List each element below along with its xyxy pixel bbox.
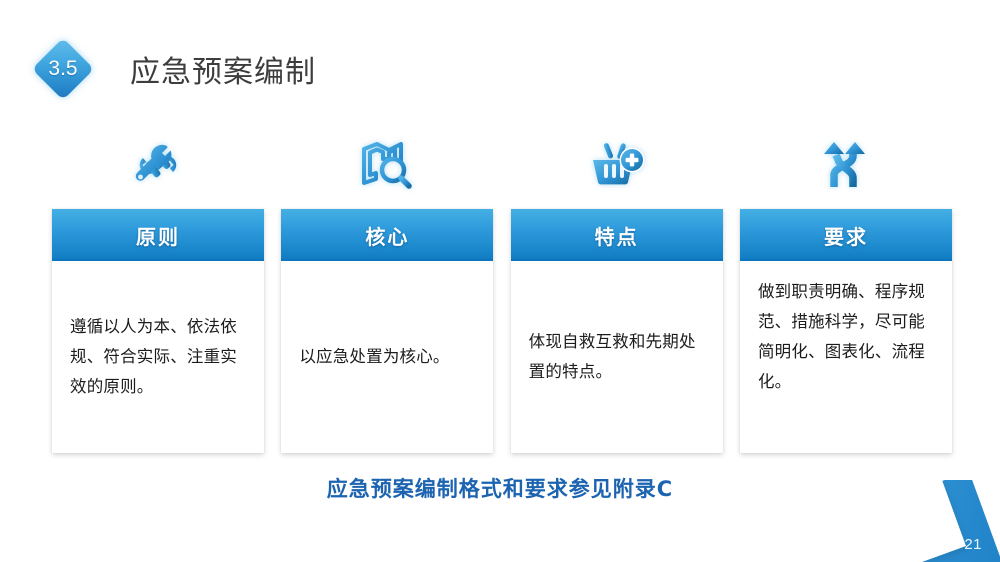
columns-container: 原则 遵循以人为本、依法依规、符合实际、注重实效的原则。 bbox=[52, 126, 952, 456]
card-header-label: 核心 bbox=[281, 209, 493, 261]
page-number: 21 bbox=[964, 536, 982, 553]
column-requirement: 要求 做到职责明确、程序规范、措施科学，尽可能简明化、图表化、流程化。 bbox=[740, 126, 952, 456]
card-feature[interactable]: 特点 体现自救互救和先期处置的特点。 bbox=[511, 209, 723, 453]
map-search-icon bbox=[281, 126, 493, 204]
slide-title-row: 3.5 应急预案编制 bbox=[30, 36, 316, 102]
card-body-text: 做到职责明确、程序规范、措施科学，尽可能简明化、图表化、流程化。 bbox=[740, 261, 952, 453]
card-requirement[interactable]: 要求 做到职责明确、程序规范、措施科学，尽可能简明化、图表化、流程化。 bbox=[740, 209, 952, 453]
card-core[interactable]: 核心 以应急处置为核心。 bbox=[281, 209, 493, 453]
card-header-label: 特点 bbox=[511, 209, 723, 261]
card-header-label: 原则 bbox=[52, 209, 264, 261]
card-body-text: 体现自救互救和先期处置的特点。 bbox=[511, 261, 723, 453]
section-number-label: 3.5 bbox=[30, 36, 96, 102]
crossing-arrows-icon bbox=[740, 126, 952, 204]
column-core: 核心 以应急处置为核心。 bbox=[281, 126, 493, 456]
card-principle[interactable]: 原则 遵循以人为本、依法依规、符合实际、注重实效的原则。 bbox=[52, 209, 264, 453]
page-title: 应急预案编制 bbox=[130, 47, 316, 91]
slide-canvas: 3.5 应急预案编制 bbox=[0, 0, 1000, 562]
card-body-text: 遵循以人为本、依法依规、符合实际、注重实效的原则。 bbox=[52, 261, 264, 453]
column-feature: 特点 体现自救互救和先期处置的特点。 bbox=[511, 126, 723, 456]
card-body-text: 以应急处置为核心。 bbox=[281, 261, 493, 453]
column-principle: 原则 遵循以人为本、依法依规、符合实际、注重实效的原则。 bbox=[52, 126, 264, 456]
wrench-icon bbox=[52, 126, 264, 204]
footer-caption: 应急预案编制格式和要求参见附录C bbox=[0, 473, 1000, 503]
basket-plus-icon bbox=[511, 126, 723, 204]
card-header-label: 要求 bbox=[740, 209, 952, 261]
section-number-badge: 3.5 bbox=[30, 36, 96, 102]
